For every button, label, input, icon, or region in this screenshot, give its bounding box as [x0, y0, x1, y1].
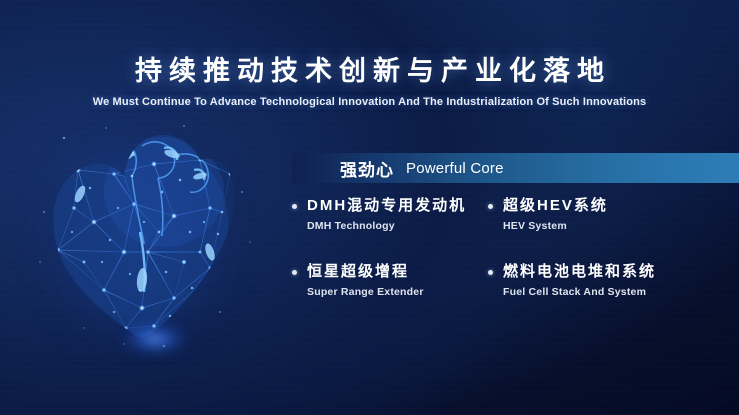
- feature-list: DMH混动专用发动机 DMH Technology 超级HEV系统 HEV Sy…: [292, 196, 739, 299]
- feature-label-cn: 燃料电池电堆和系统: [503, 262, 656, 282]
- feature-text: 恒星超级增程 Super Range Extender: [307, 262, 424, 299]
- feature-label-en: DMH Technology: [307, 220, 466, 233]
- feature-label-en: Fuel Cell Stack And System: [503, 286, 656, 299]
- feature-text: 超级HEV系统 HEV System: [503, 196, 608, 233]
- bullet-icon: [292, 270, 297, 275]
- section-header-bar: 强劲心 Powerful Core: [292, 153, 739, 183]
- feature-label-cn: DMH混动专用发动机: [307, 196, 466, 216]
- feature-text: DMH混动专用发动机 DMH Technology: [307, 196, 466, 233]
- headline-block: 持续推动技术创新与产业化落地 We Must Continue To Advan…: [0, 52, 739, 110]
- feature-item-hev: 超级HEV系统 HEV System: [488, 196, 739, 233]
- bullet-icon: [488, 270, 493, 275]
- bullet-icon: [488, 204, 493, 209]
- feature-item-dmh: DMH混动专用发动机 DMH Technology: [292, 196, 488, 233]
- bullet-icon: [292, 204, 297, 209]
- particle-network-heart-icon: [14, 112, 264, 357]
- page-title: 持续推动技术创新与产业化落地: [0, 52, 739, 90]
- feature-label-en: Super Range Extender: [307, 286, 424, 299]
- feature-item-range-extender: 恒星超级增程 Super Range Extender: [292, 262, 488, 299]
- section-title-en: Powerful Core: [406, 160, 504, 177]
- section-title-cn: 强劲心: [340, 156, 394, 181]
- feature-label-cn: 超级HEV系统: [503, 196, 608, 216]
- feature-label-en: HEV System: [503, 220, 608, 233]
- feature-text: 燃料电池电堆和系统 Fuel Cell Stack And System: [503, 262, 656, 299]
- page-subtitle: We Must Continue To Advance Technologica…: [0, 95, 739, 110]
- feature-label-cn: 恒星超级增程: [307, 262, 424, 282]
- feature-item-fuel-cell: 燃料电池电堆和系统 Fuel Cell Stack And System: [488, 262, 739, 299]
- presentation-slide: 持续推动技术创新与产业化落地 We Must Continue To Advan…: [0, 0, 739, 415]
